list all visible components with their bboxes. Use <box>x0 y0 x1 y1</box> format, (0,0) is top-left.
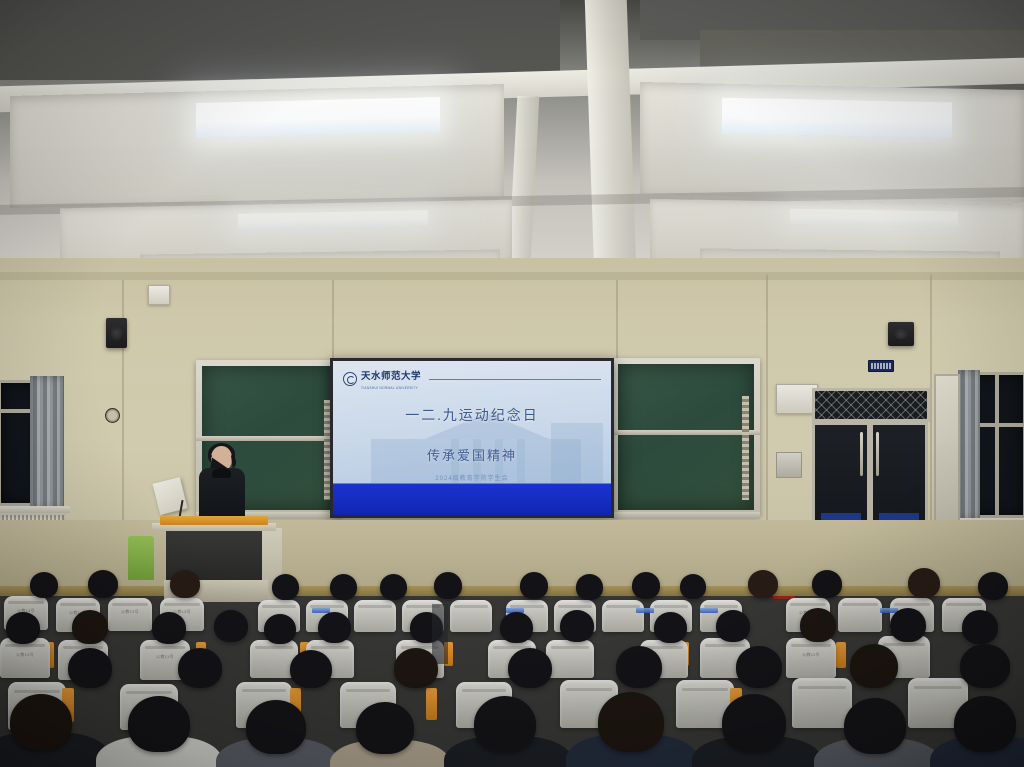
wall-speaker-right <box>888 322 914 346</box>
audience-head <box>356 702 414 754</box>
slide-university-name-en: TIANSHUI NORMAL UNIVERSITY <box>361 386 421 390</box>
right-chalk-tray <box>612 512 760 519</box>
curtain-right <box>958 370 980 520</box>
seat-row-label: 公教11号 <box>786 652 836 658</box>
audience-head <box>632 572 660 599</box>
seat[interactable]: 公教13号 <box>0 638 50 678</box>
audience-head <box>10 694 72 750</box>
seat[interactable]: 公教13号 <box>108 598 152 631</box>
audience-head <box>616 646 662 688</box>
door-transom-window <box>812 388 930 422</box>
seat-armrest <box>426 688 437 720</box>
audience-head <box>654 612 687 643</box>
presenter-collar <box>212 468 231 478</box>
audience-head <box>434 572 462 599</box>
right-blackboard-split <box>612 430 760 435</box>
desk-display <box>636 608 654 613</box>
wall-seam-3 <box>616 280 618 358</box>
right-blackboard-frame <box>612 358 760 516</box>
slide-subtitle: 传承爱国精神 <box>333 445 611 464</box>
audience-head <box>960 644 1010 688</box>
audience-seating: 公教14号 公教14号 公教13号 公教13号 公教12号 公教12号 <box>0 556 1024 767</box>
seat[interactable] <box>838 598 882 632</box>
ceiling-bay-dark-left <box>0 0 560 80</box>
audience-head <box>30 572 58 598</box>
seat-row-label: 公教13号 <box>108 609 152 615</box>
slide-footnote: 2024级教育学院学生会 <box>333 473 611 482</box>
audience-head <box>128 696 190 752</box>
projection-display-bezel[interactable]: 天水师范大学 TIANSHUI NORMAL UNIVERSITY 一二.九运动… <box>330 358 614 518</box>
audience-head <box>850 644 898 688</box>
door-handle-right[interactable] <box>876 432 879 476</box>
audience-head <box>954 696 1016 752</box>
audience-head <box>598 692 664 752</box>
slide-bottom-band <box>333 483 611 515</box>
audience-head <box>500 612 533 643</box>
wall-junction-box-left <box>148 285 170 305</box>
seat[interactable] <box>602 600 644 632</box>
panel-light-right-front <box>722 98 952 139</box>
audience-head <box>394 648 438 688</box>
panel-light-left-front <box>196 97 440 138</box>
wall-cornice <box>0 272 1024 280</box>
right-blackboard-track <box>742 396 749 500</box>
audience-head <box>72 610 108 644</box>
audience-head <box>576 574 603 600</box>
audience-head <box>560 610 594 642</box>
seat-armrest <box>836 642 846 668</box>
exit-sign <box>868 360 894 372</box>
exit-sign-glyph-icon <box>871 363 891 369</box>
audience-head <box>318 612 351 643</box>
slide-university-name: 天水师范大学 <box>361 368 421 382</box>
slide-header-rule <box>429 379 601 380</box>
seat[interactable] <box>450 600 492 632</box>
lectern-top <box>160 516 268 525</box>
audience-head <box>748 570 778 598</box>
panel-light-right-rear <box>790 209 958 228</box>
desk-display <box>700 608 718 613</box>
seat[interactable] <box>546 640 594 678</box>
audience-head <box>800 608 836 642</box>
audience-head <box>962 610 998 644</box>
audience-head <box>508 648 552 688</box>
audience-head <box>88 570 118 598</box>
window-right-mullion-v <box>995 375 999 515</box>
lecture-hall-photo: 天水师范大学 TIANSHUI NORMAL UNIVERSITY 一二.九运动… <box>0 0 1024 767</box>
right-blackboard <box>618 364 754 510</box>
audience-head <box>812 570 842 598</box>
audience-head <box>290 650 332 688</box>
seat[interactable] <box>354 600 396 632</box>
ceiling <box>0 0 1024 300</box>
window-sill-left <box>0 506 70 513</box>
wall-seam-2 <box>332 280 334 358</box>
audience-head <box>844 698 906 754</box>
projection-display[interactable]: 天水师范大学 TIANSHUI NORMAL UNIVERSITY 一二.九运动… <box>333 361 611 515</box>
audience-head <box>170 570 200 598</box>
slide-title: 一二.九运动纪念日 <box>333 405 611 425</box>
seat-row-label: 公教13号 <box>0 652 50 658</box>
wall-clock <box>105 408 120 423</box>
audience-head <box>722 694 786 752</box>
curtain-left <box>30 376 64 510</box>
door-handle-left[interactable] <box>860 432 863 476</box>
audience-head <box>264 614 296 644</box>
slide-header: 天水师范大学 TIANSHUI NORMAL UNIVERSITY <box>343 371 601 387</box>
audience-head <box>736 646 782 688</box>
audience-head <box>680 574 706 599</box>
audience-head <box>152 612 186 644</box>
seat[interactable]: 公教11号 <box>786 638 836 678</box>
audience-head <box>474 696 536 752</box>
audience-head <box>272 574 299 600</box>
audience-head <box>520 572 548 599</box>
seat[interactable] <box>792 678 852 728</box>
audience-head <box>330 574 357 600</box>
audience-head <box>214 610 248 642</box>
university-emblem-icon <box>343 372 357 386</box>
wall-speaker-left <box>106 318 127 348</box>
ceiling-beam-vertical-center <box>585 0 637 300</box>
audience-head <box>978 572 1008 600</box>
audience-head <box>246 700 306 754</box>
audience-head <box>6 612 40 644</box>
audience-head <box>380 574 407 600</box>
audience-head <box>716 610 750 642</box>
aisle-gap <box>432 604 448 664</box>
audience-head <box>890 608 926 642</box>
audience-head <box>68 648 112 688</box>
left-blackboard-split <box>196 436 342 441</box>
side-door-frame[interactable] <box>934 374 960 524</box>
audience-head <box>908 568 940 598</box>
wall-control-panel[interactable] <box>776 452 802 478</box>
audience-head <box>178 648 222 688</box>
